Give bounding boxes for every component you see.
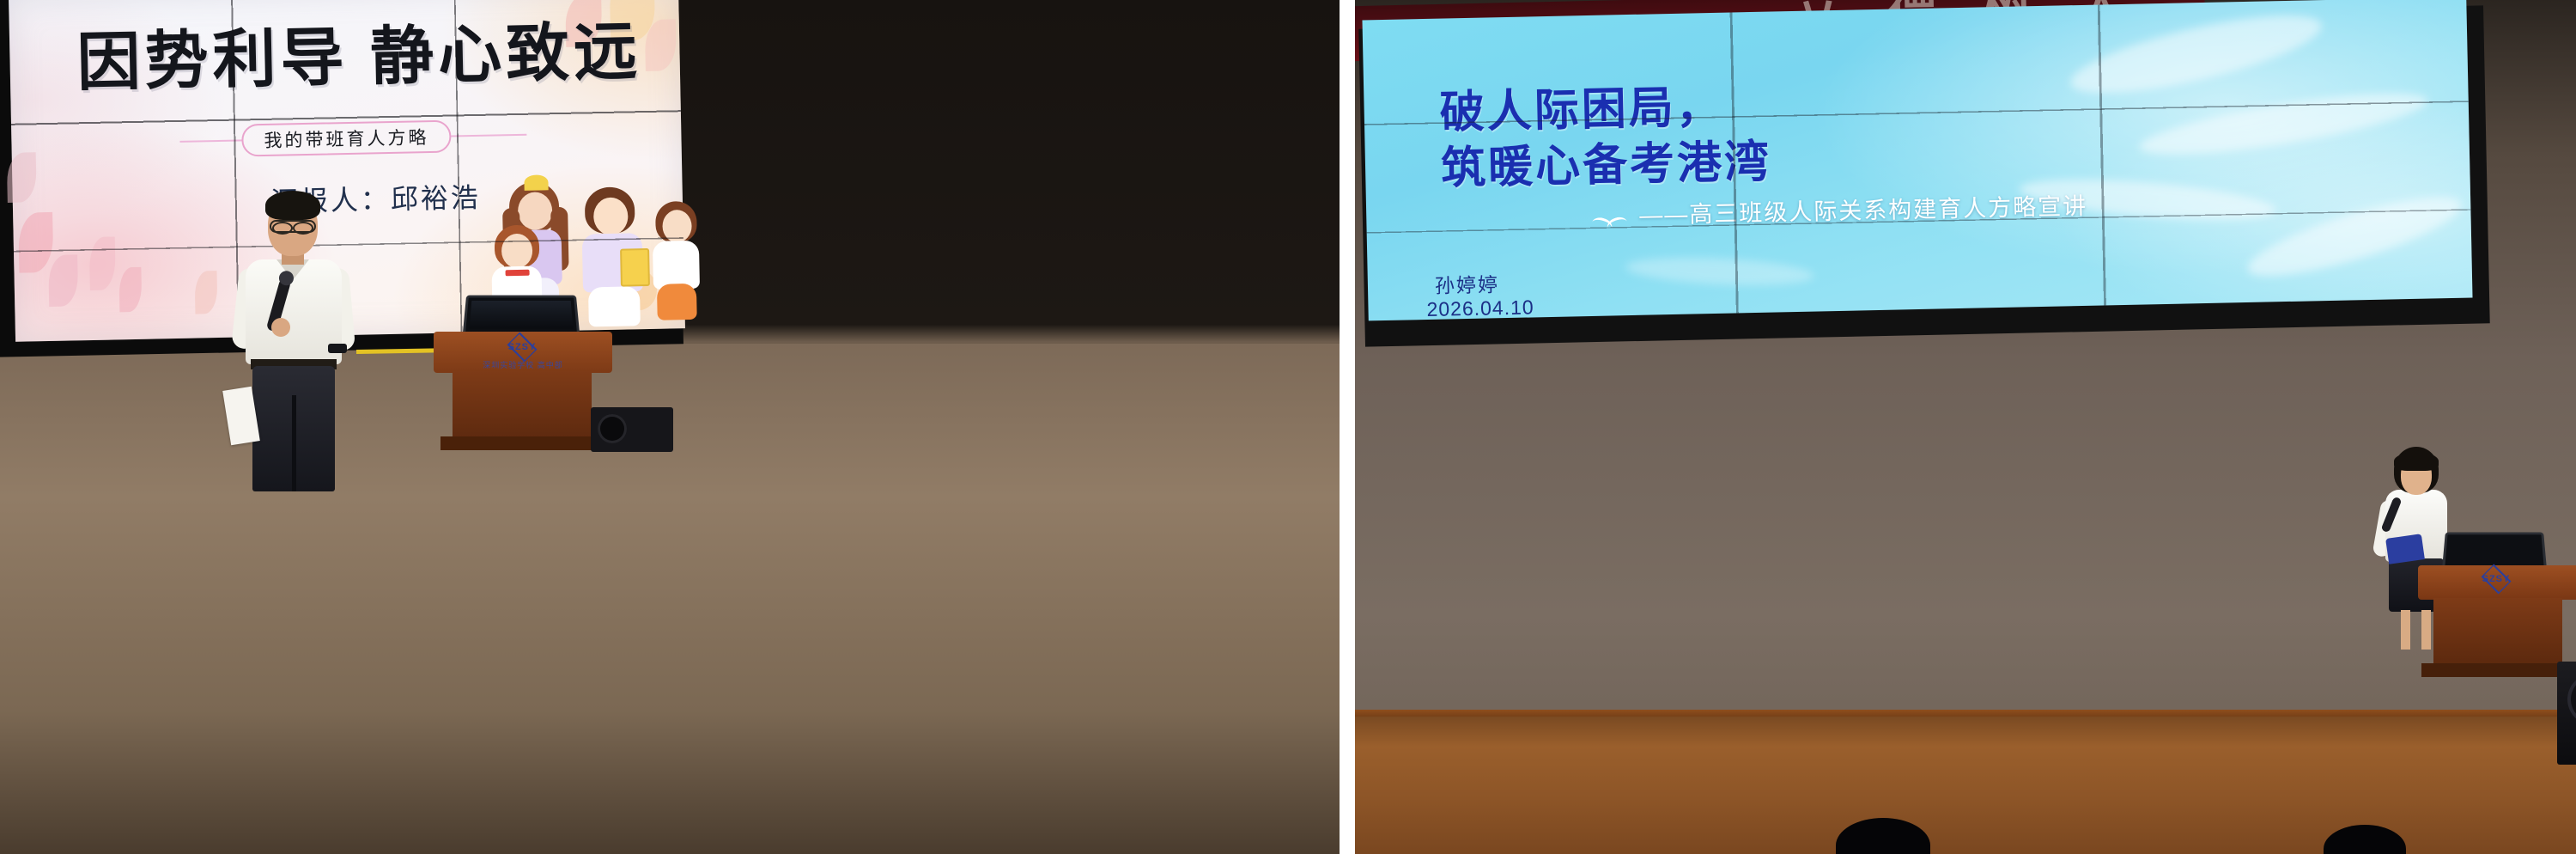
right-slide-wave-4: [2241, 182, 2468, 291]
right-podium: SZSY: [2418, 546, 2576, 701]
right-slide-presenter: 孙婷婷: [1435, 268, 1500, 299]
left-presenter-hand: [271, 318, 290, 337]
left-badge-rule-left: [179, 139, 243, 142]
right-presenter-fringe: [2394, 452, 2439, 471]
right-podium-body: [2433, 598, 2562, 665]
glasses-icon: [270, 220, 316, 233]
right-floor-speaker: [2557, 662, 2576, 765]
school-emblem-icon: SZSY: [2471, 570, 2519, 588]
right-slide-subtitle: ——高三班级人际关系构建育人方略宣讲: [1639, 187, 2088, 230]
right-slide-date: 2026.04.10: [1426, 296, 1534, 320]
left-slide-kid-girl-3: [573, 186, 656, 326]
left-podium-monitor-screen: [470, 301, 574, 329]
left-photo: 因势利导 静心致远 我的带班育人方略 汇报人：邱裕浩: [0, 0, 1340, 854]
right-slide-title-line2: 筑暖心备考港湾: [1440, 135, 1771, 198]
left-slide-badge: 我的带班育人方略: [241, 120, 452, 157]
left-podium-school-text: 深圳实验学校 高中部: [463, 359, 583, 370]
left-floor-speaker: [591, 407, 673, 452]
left-podium-base: [440, 436, 604, 450]
left-badge-rule-right: [451, 134, 526, 137]
right-podium-lamp: [2385, 534, 2425, 564]
emblem-mark: SZSY: [2480, 574, 2512, 584]
left-presenter-trousers: [252, 366, 335, 491]
left-slide-badge-label: 我的带班育人方略: [264, 124, 429, 153]
right-slide-wave-2: [2136, 81, 2431, 167]
left-slide-kid-girl-4: [650, 201, 706, 322]
left-presenter-figure: [234, 182, 354, 491]
right-podium-base: [2421, 663, 2574, 677]
right-led-screen: 破人际困局， 筑暖心备考港湾 ——高三班级人际关系构建育人方略宣讲 孙婷婷 20…: [1362, 0, 2472, 320]
right-slide-title-line1: 破人际困局，: [1439, 79, 1771, 142]
right-podium-monitor: [2442, 533, 2547, 569]
left-slide-title: 因势利导 静心致远: [76, 20, 627, 95]
right-slide-wave-5: [1625, 253, 1814, 289]
emblem-mark: SZSY: [506, 342, 538, 352]
school-emblem-icon: SZSY: [497, 339, 547, 357]
bird-icon: [1591, 217, 1629, 234]
screenshot-stage: 因势利导 静心致远 我的带班育人方略 汇报人：邱裕浩: [0, 0, 2576, 854]
right-presenter-leg-left: [2401, 610, 2410, 650]
left-podium: SZSY 深圳实验学校 高中部: [434, 309, 612, 473]
wristwatch-icon: [328, 344, 347, 353]
left-podium-body: [453, 371, 592, 438]
right-photo: 立 德 树 人 ——深圳实验学校高中部班主任专业能力大赛复赛 破人际困局， 筑暖…: [1355, 0, 2576, 854]
left-presenter-hair: [265, 191, 320, 220]
right-slide-title: 破人际困局， 筑暖心备考港湾: [1439, 79, 1772, 198]
right-slide-wave-1: [2065, 0, 2328, 109]
left-podium-monitor: [463, 296, 580, 335]
photo-divider: [1340, 0, 1355, 854]
